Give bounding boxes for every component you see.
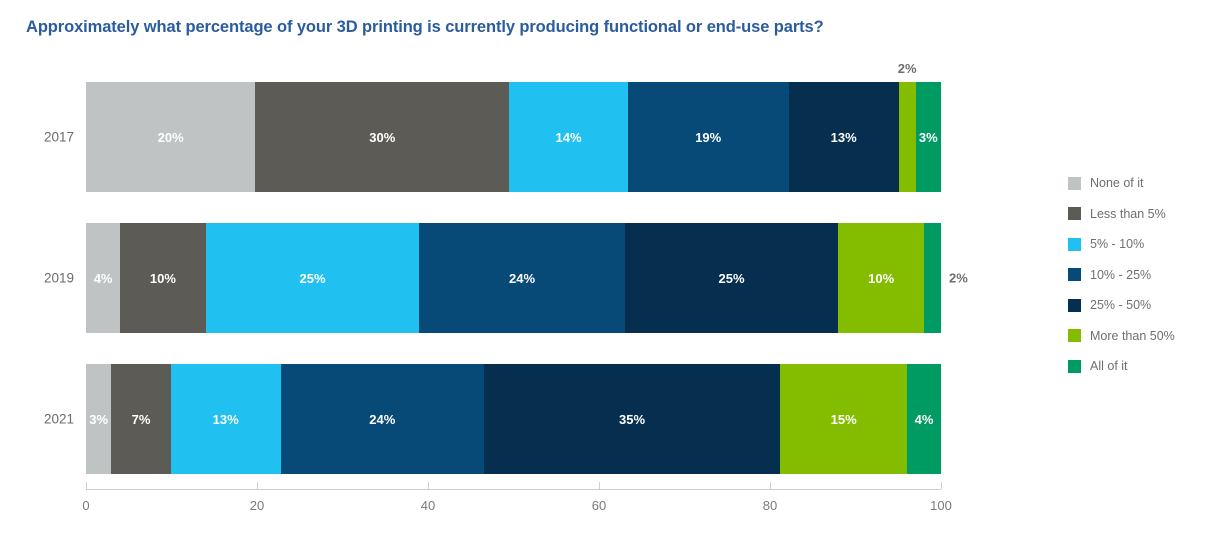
y-axis-tick-label: 2017 [18,130,74,145]
bar-value-label: 14% [556,130,582,145]
bar-segment[interactable]: 4% [907,364,941,474]
bar-value-label: 13% [213,412,239,427]
legend-swatch-icon [1068,207,1081,220]
chart-plot-area: 20%30%14%19%13%2%3%4%10%25%24%25%10%2%3%… [86,82,941,474]
bar-segment[interactable]: 30% [255,82,509,192]
legend-swatch-icon [1068,299,1081,312]
bar-value-label: 19% [695,130,721,145]
legend-item-label: None of it [1090,176,1144,190]
x-axis-tick [428,482,429,489]
bar-value-label: 3% [89,412,108,427]
bar-segment[interactable]: 13% [789,82,899,192]
bar-segment[interactable]: 10% [120,223,206,333]
bar-value-label: 10% [150,271,176,286]
x-axis-tick-label: 60 [592,498,606,513]
legend-item[interactable]: Less than 5% [1068,199,1200,230]
legend-item-label: Less than 5% [1090,207,1166,221]
legend-item[interactable]: More than 50% [1068,321,1200,352]
x-axis-tick [770,482,771,489]
bar-row: 4%10%25%24%25%10%2% [86,223,941,333]
legend-item[interactable]: None of it [1068,168,1200,199]
bar-value-label: 4% [94,271,113,286]
x-axis-tick-label: 80 [763,498,777,513]
x-axis-tick-label: 20 [250,498,264,513]
bar-segment[interactable]: 2% [924,223,941,333]
legend-swatch-icon [1068,329,1081,342]
bar-value-label: 7% [132,412,151,427]
bar-value-label: 13% [831,130,857,145]
legend-swatch-icon [1068,268,1081,281]
bar-value-label: 3% [919,130,938,145]
x-axis-tick-label: 100 [930,498,952,513]
bar-value-label: 24% [369,412,395,427]
bar-segment[interactable]: 10% [838,223,924,333]
bar-value-label: 25% [718,271,744,286]
bar-segment[interactable]: 20% [86,82,255,192]
bar-value-label: 2% [949,271,968,286]
bar-segment[interactable]: 25% [625,223,839,333]
bar-value-label: 24% [509,271,535,286]
bar-value-label: 25% [300,271,326,286]
legend-item-label: All of it [1090,359,1128,373]
bar-segment[interactable]: 15% [780,364,907,474]
bar-segment[interactable]: 14% [509,82,628,192]
bar-segment[interactable]: 3% [86,364,111,474]
bar-segment[interactable]: 3% [916,82,941,192]
legend-swatch-icon [1068,360,1081,373]
y-axis-tick-label: 2021 [18,412,74,427]
bar-segment[interactable]: 4% [86,223,120,333]
legend-item[interactable]: All of it [1068,351,1200,382]
bar-segment[interactable]: 19% [628,82,789,192]
x-axis-tick [599,482,600,489]
bar-value-label: 10% [868,271,894,286]
chart-legend: None of itLess than 5%5% - 10%10% - 25%2… [1068,168,1200,382]
legend-item[interactable]: 10% - 25% [1068,260,1200,291]
bar-segment[interactable]: 24% [419,223,624,333]
x-axis-tick-label: 40 [421,498,435,513]
bar-segment[interactable]: 2% [899,82,916,192]
bar-segment[interactable]: 7% [111,364,170,474]
bar-segment[interactable]: 35% [484,364,780,474]
bar-row: 20%30%14%19%13%2%3% [86,82,941,192]
bar-row: 3%7%13%24%35%15%4% [86,364,941,474]
legend-item-label: 10% - 25% [1090,268,1151,282]
x-axis-tick-label: 0 [82,498,89,513]
x-axis-tick [941,482,942,489]
legend-swatch-icon [1068,238,1081,251]
y-axis-tick-label: 2019 [18,271,74,286]
x-axis: 020406080100 [86,489,941,490]
bar-value-label: 30% [369,130,395,145]
legend-item-label: More than 50% [1090,329,1175,343]
bar-segment[interactable]: 25% [206,223,420,333]
legend-item-label: 25% - 50% [1090,298,1151,312]
bar-value-label: 20% [158,130,184,145]
page-title: Approximately what percentage of your 3D… [26,18,824,37]
bar-value-label: 2% [898,61,917,76]
bar-segment[interactable]: 13% [171,364,281,474]
legend-item[interactable]: 5% - 10% [1068,229,1200,260]
bar-value-label: 15% [831,412,857,427]
x-axis-tick [257,482,258,489]
bar-value-label: 4% [915,412,934,427]
bar-value-label: 35% [619,412,645,427]
legend-item-label: 5% - 10% [1090,237,1144,251]
bar-segment[interactable]: 24% [281,364,484,474]
legend-swatch-icon [1068,177,1081,190]
legend-item[interactable]: 25% - 50% [1068,290,1200,321]
x-axis-tick [86,482,87,489]
